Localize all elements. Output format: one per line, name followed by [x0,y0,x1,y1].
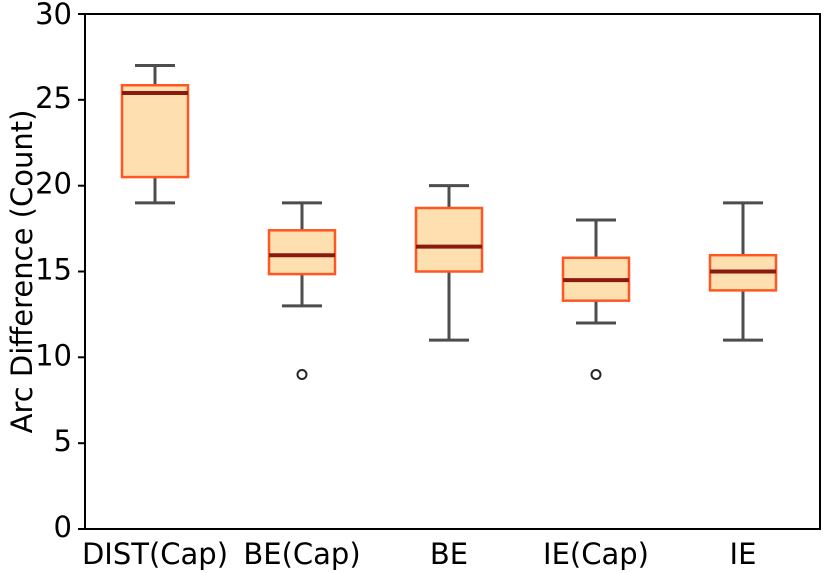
y-tick-label-0: 0 [54,510,72,544]
box-iqr [269,230,335,274]
x-tick-labels: DIST(Cap) BE(Cap) BE IE(Cap) IE [82,537,756,571]
x-tick-label-dist-cap: DIST(Cap) [82,537,228,571]
y-tick-label-10: 10 [35,338,72,372]
y-tick-labels: 0 5 10 15 20 25 30 [35,0,72,544]
y-tick-label-5: 5 [54,424,72,458]
x-tick-label-ie-cap: IE(Cap) [543,537,649,571]
chart-canvas: 0 5 10 15 20 25 30 Arc Difference (Count… [0,0,831,573]
y-tick-label-15: 15 [35,253,72,287]
x-tick-label-ie: IE [730,537,757,571]
box-iqr [416,208,482,272]
y-axis-title: Arc Difference (Count) [5,110,39,434]
x-tick-label-be-cap: BE(Cap) [243,537,360,571]
x-tick-label-be: BE [430,537,468,571]
y-tick-label-20: 20 [35,167,72,201]
boxplot-figure: 0 5 10 15 20 25 30 Arc Difference (Count… [0,0,831,573]
y-tick-label-30: 30 [35,0,72,31]
y-tick-label-25: 25 [35,81,72,115]
y-tick-marks [78,14,85,529]
box-iqr [122,85,188,177]
